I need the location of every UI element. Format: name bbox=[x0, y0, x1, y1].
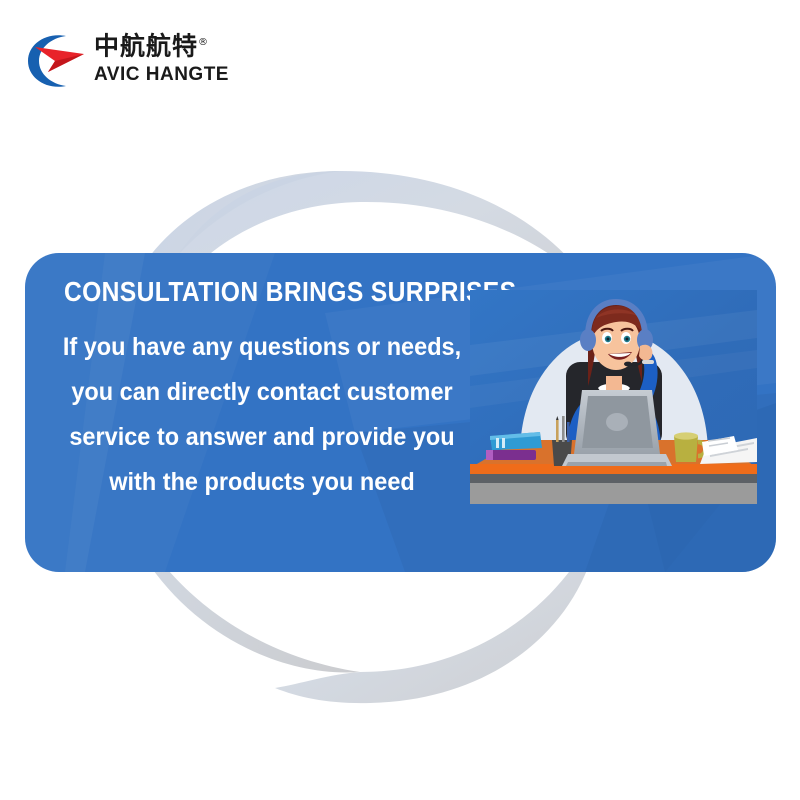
coffee-mug bbox=[674, 436, 698, 462]
card-body-text: If you have any questions or needs, you … bbox=[51, 325, 474, 505]
headset-ear-left bbox=[580, 329, 596, 351]
floor bbox=[470, 483, 757, 504]
book-purple bbox=[486, 450, 536, 460]
registered-trademark-icon: ® bbox=[198, 37, 209, 48]
promo-card: CONSULTATION BRINGS SURPRISES If you hav… bbox=[25, 253, 776, 572]
brand-logo-text: 中航航特® AVIC HANGTE bbox=[94, 28, 234, 87]
desk-shadow bbox=[470, 474, 757, 483]
poster-canvas: 中航航特® AVIC HANGTE CONSULTATION BRINGS SU… bbox=[0, 0, 800, 800]
customer-service-illustration bbox=[470, 290, 757, 504]
avic-arrow-swoosh-logo-icon bbox=[22, 30, 90, 92]
card-headline: CONSULTATION BRINGS SURPRISES bbox=[64, 275, 460, 309]
brand-logo: 中航航特® AVIC HANGTE bbox=[22, 28, 232, 100]
brand-name-cn: 中航航特® bbox=[94, 28, 234, 61]
brand-name-en: AVIC HANGTE bbox=[94, 63, 234, 87]
card-copy-block: CONSULTATION BRINGS SURPRISES If you hav… bbox=[37, 275, 487, 505]
